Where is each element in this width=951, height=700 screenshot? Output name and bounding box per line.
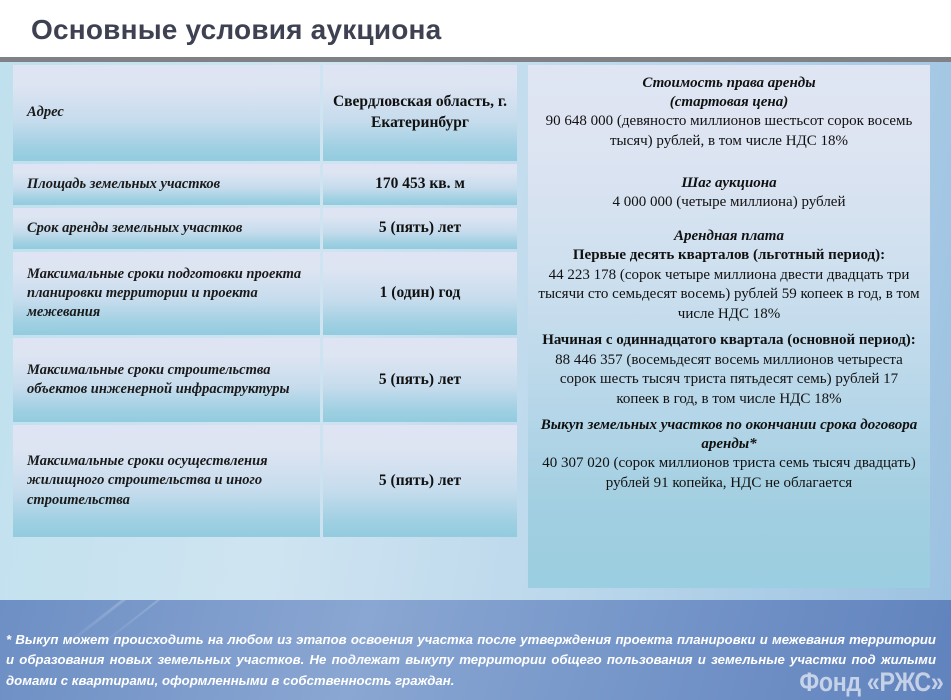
row-label: Срок аренды земельных участков [27,219,242,238]
table-row: Адрес Свердловская область, г. Екатеринб… [13,65,517,161]
row-label: Адрес [27,103,64,122]
table-cell-label: Срок аренды земельных участков [13,208,320,249]
rent-main-period-heading: Начиная с одиннадцатого квартала (основн… [538,331,920,351]
auction-step-title: Шаг аукциона [538,174,920,193]
table-cell-label: Максимальные сроки строительства объекто… [13,338,320,422]
title-area: Основные условия аукциона [0,0,951,57]
row-value: 1 (один) год [380,283,461,304]
table-cell-value: 5 (пять) лет [323,425,517,537]
row-label: Площадь земельных участков [27,175,220,194]
table-cell-value: 5 (пять) лет [323,208,517,249]
financial-terms-panel: Стоимость права аренды (стартовая цена) … [528,65,930,588]
table-cell-value: Свердловская область, г. Екатеринбург [323,65,517,161]
slide-footer: * Выкуп может происходить на любом из эт… [0,600,951,700]
rent-first-period-text: 44 223 178 (сорок четыре миллиона двести… [538,266,920,325]
page-title: Основные условия аукциона [31,14,441,46]
row-value: 5 (пять) лет [379,471,461,492]
row-value: Свердловская область, г. Екатеринбург [331,92,509,133]
buyout-text: 40 307 020 (сорок миллионов триста семь … [538,454,920,494]
row-label: Максимальные сроки осуществления жилищно… [27,452,306,509]
row-value: 5 (пять) лет [379,218,461,239]
auction-step-block: Шаг аукциона 4 000 000 (четыре миллиона)… [538,174,920,213]
buyout-title: Выкуп земельных участков по окончании ср… [538,416,920,454]
rent-first-period-heading: Первые десять кварталов (льготный период… [538,246,920,266]
row-value: 170 453 кв. м [375,174,465,195]
row-value: 5 (пять) лет [379,370,461,391]
footnote-text: * Выкуп может происходить на любом из эт… [6,630,936,691]
lease-price-block: Стоимость права аренды (стартовая цена) … [538,74,920,152]
rent-block: Арендная плата Первые десять кварталов (… [538,227,920,410]
table-row: Максимальные сроки строительства объекто… [13,338,517,422]
spacer [538,152,920,174]
table-cell-label: Площадь земельных участков [13,164,320,205]
table-cell-label: Адрес [13,65,320,161]
table-row: Площадь земельных участков 170 453 кв. м [13,164,517,205]
table-row: Максимальные сроки подготовки проекта пл… [13,252,517,335]
rent-main-period-text: 88 446 357 (восемьдесят восемь миллионов… [538,351,920,410]
rent-title: Арендная плата [538,227,920,246]
slide: Основные условия аукциона Адрес Свердлов… [0,0,951,700]
table-row: Максимальные сроки осуществления жилищно… [13,425,517,537]
row-label: Максимальные сроки строительства объекто… [27,361,306,399]
table-cell-value: 1 (один) год [323,252,517,335]
lease-price-subtitle: (стартовая цена) [538,93,920,112]
table-row: Срок аренды земельных участков 5 (пять) … [13,208,517,249]
table-cell-value: 170 453 кв. м [323,164,517,205]
buyout-block: Выкуп земельных участков по окончании ср… [538,416,920,494]
lease-price-text: 90 648 000 (девяносто миллионов шестьсот… [538,112,920,152]
table-cell-label: Максимальные сроки подготовки проекта пл… [13,252,320,335]
conditions-table: Адрес Свердловская область, г. Екатеринб… [13,65,517,588]
auction-step-text: 4 000 000 (четыре миллиона) рублей [538,193,920,213]
lease-price-title: Стоимость права аренды [538,74,920,93]
spacer [538,213,920,227]
table-cell-label: Максимальные сроки осуществления жилищно… [13,425,320,537]
decorative-streak [585,600,776,607]
organization-logo: Фонд «РЖС» [799,667,943,698]
row-label: Максимальные сроки подготовки проекта пл… [27,265,306,322]
table-cell-value: 5 (пять) лет [323,338,517,422]
